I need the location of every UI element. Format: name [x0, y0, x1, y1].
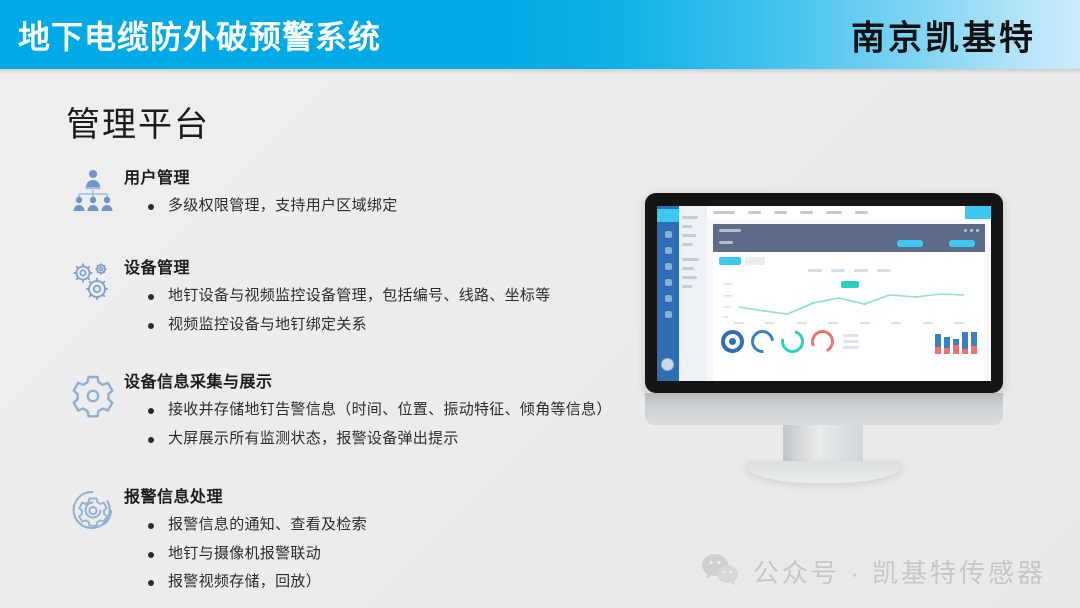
monitor-illustration — [645, 193, 1017, 493]
bullet-dot-icon — [148, 408, 154, 414]
feature-bullet: 报警视频存储，回放） — [148, 573, 662, 592]
banner-button — [949, 240, 975, 247]
bar — [953, 339, 959, 354]
axis-tick — [765, 322, 775, 324]
dashboard-submenu — [679, 206, 707, 381]
sidebar-item — [665, 231, 672, 238]
submenu-item — [682, 225, 692, 228]
feature-bullet: 接收并存储地钉告警信息（时间、位置、振动特征、倾角等信息） — [148, 401, 662, 420]
sidebar-item — [665, 263, 672, 270]
kpi-ring — [721, 330, 744, 353]
tab-inactive — [745, 257, 765, 265]
tab-active — [719, 257, 741, 265]
gear-in-ring-icon — [62, 479, 124, 541]
submenu-item — [682, 216, 698, 219]
feature-body: 设备管理 地钉设备与视频监控设备管理，包括编号、线路、坐标等 视频监控设备与地钉… — [124, 248, 662, 345]
avatar — [661, 358, 674, 371]
topnav-item — [855, 211, 868, 214]
banner-button — [897, 240, 923, 247]
org-chart-icon — [62, 160, 124, 222]
feature-bullet-text: 多级权限管理，支持用户区域绑定 — [168, 197, 398, 216]
chart-legend — [713, 269, 985, 272]
bar — [962, 332, 968, 354]
legend-item — [831, 269, 845, 272]
feature-heading: 报警信息处理 — [124, 483, 662, 507]
monitor-chin — [645, 393, 1003, 425]
sidebar-item — [665, 247, 672, 254]
bullet-dot-icon — [148, 552, 154, 558]
wechat-icon — [701, 553, 739, 590]
page-title: 管理平台 — [66, 97, 210, 146]
feature-bullet: 视频监控设备与地钉绑定关系 — [148, 316, 662, 335]
chart-tooltip — [841, 281, 859, 288]
banner-dots-icon — [964, 229, 979, 232]
submenu-item — [682, 234, 696, 237]
bar — [944, 337, 950, 354]
monitor-stand-foot — [745, 461, 903, 483]
feature-body: 设备信息采集与展示 接收并存储地钉告警信息（时间、位置、振动特征、倾角等信息） … — [124, 362, 662, 459]
line-chart — [721, 273, 977, 321]
feature-bullet-text: 报警视频存储，回放） — [168, 573, 321, 592]
feature-bullet: 地钉与摄像机报警联动 — [148, 545, 662, 564]
feature-bullet: 地钉设备与视频监控设备管理，包括编号、线路、坐标等 — [148, 287, 662, 306]
feature-bullet: 多级权限管理，支持用户区域绑定 — [148, 197, 662, 216]
dashboard-topnav — [707, 206, 991, 219]
legend-item — [877, 269, 891, 272]
sidebar-item — [665, 279, 672, 286]
bullet-dot-icon — [148, 323, 154, 329]
feature-heading: 设备信息采集与展示 — [124, 368, 662, 392]
kpi-ring — [777, 325, 808, 356]
watermark-text: 公众号 · 凯基特传感器 — [753, 553, 1046, 590]
axis-tick — [954, 322, 964, 324]
dashboard-sidebar — [657, 206, 679, 381]
banner-line — [719, 229, 741, 232]
banner-line — [719, 241, 733, 244]
submenu-item — [682, 285, 692, 288]
feature-heading: 设备管理 — [124, 254, 662, 278]
axis-tick — [923, 322, 933, 324]
kpi-ring — [808, 326, 837, 355]
legend-item — [808, 269, 822, 272]
topnav-action-button — [965, 206, 991, 219]
bullet-dot-icon — [148, 437, 154, 443]
feature-bullet-text: 视频监控设备与地钉绑定关系 — [168, 316, 367, 335]
feature-list: 用户管理 多级权限管理，支持用户区域绑定 — [62, 158, 662, 608]
feature-section-data-collection: 设备信息采集与展示 接收并存储地钉告警信息（时间、位置、振动特征、倾角等信息） … — [62, 362, 662, 459]
feature-bullet-text: 地钉设备与视频监控设备管理，包括编号、线路、坐标等 — [168, 287, 551, 306]
dashboard-banner — [713, 224, 985, 252]
dashboard-tabs — [713, 252, 985, 267]
monitor-bezel — [645, 193, 1003, 393]
bullet-dot-icon — [148, 523, 154, 529]
dashboard-main — [707, 206, 991, 381]
watermark: 公众号 · 凯基特传感器 — [701, 553, 1046, 590]
feature-section-alarm-handling: 报警信息处理 报警信息的通知、查看及检索 地钉与摄像机报警联动 报警视频存储，回… — [62, 477, 662, 602]
submenu-item — [682, 243, 693, 246]
legend-item — [854, 269, 868, 272]
sidebar-item — [665, 295, 672, 302]
feature-heading: 用户管理 — [124, 164, 662, 188]
feature-bullet: 大屏展示所有监测状态，报警设备弹出提示 — [148, 430, 662, 449]
gears-icon — [62, 250, 124, 312]
topnav-item — [774, 211, 787, 214]
feature-bullet-text: 地钉与摄像机报警联动 — [168, 545, 321, 564]
monitor-screen — [657, 206, 991, 381]
feature-bullet-text: 接收并存储地钉告警信息（时间、位置、振动特征、倾角等信息） — [168, 401, 612, 420]
axis-tick — [828, 322, 838, 324]
feature-body: 报警信息处理 报警信息的通知、查看及检索 地钉与摄像机报警联动 报警视频存储，回… — [124, 477, 662, 602]
feature-bullet-text: 大屏展示所有监测状态，报警设备弹出提示 — [168, 430, 459, 449]
feature-section-device-management: 设备管理 地钉设备与视频监控设备管理，包括编号、线路、坐标等 视频监控设备与地钉… — [62, 248, 662, 345]
submenu-item — [682, 276, 697, 279]
header-brand: 南京凯基特 — [851, 10, 1036, 59]
topnav-item — [826, 211, 842, 214]
monitor-stand-neck — [783, 425, 863, 465]
bullet-dot-icon — [148, 580, 154, 586]
feature-bullet-text: 报警信息的通知、查看及检索 — [168, 516, 367, 535]
feature-body: 用户管理 多级权限管理，支持用户区域绑定 — [124, 158, 662, 226]
axis-tick — [797, 322, 807, 324]
bar — [971, 332, 977, 354]
submenu-item — [682, 258, 699, 261]
bar-chart — [935, 328, 977, 354]
dashboard-logo — [657, 209, 679, 222]
feature-section-user-management: 用户管理 多级权限管理，支持用户区域绑定 — [62, 158, 662, 226]
topnav-item — [748, 211, 761, 214]
feature-bullet: 报警信息的通知、查看及检索 — [148, 516, 662, 535]
axis-tick — [734, 322, 744, 324]
sidebar-item — [665, 311, 672, 318]
kpi-ring — [746, 325, 778, 357]
dashboard-card — [713, 224, 985, 381]
header-shadow — [0, 69, 1080, 74]
kpi-row — [713, 324, 985, 360]
axis-tick — [860, 322, 870, 324]
kpi-legend — [843, 334, 859, 349]
bar — [935, 334, 941, 354]
gear-icon — [62, 364, 124, 426]
bullet-dot-icon — [148, 204, 154, 210]
axis-tick — [891, 322, 901, 324]
bullet-dot-icon — [148, 294, 154, 300]
submenu-item — [682, 267, 694, 270]
header-title: 地下电缆防外破预警系统 — [18, 12, 381, 58]
topnav-item — [800, 211, 813, 214]
topnav-item — [713, 211, 735, 214]
slide-header: 地下电缆防外破预警系统 南京凯基特 — [0, 0, 1080, 69]
